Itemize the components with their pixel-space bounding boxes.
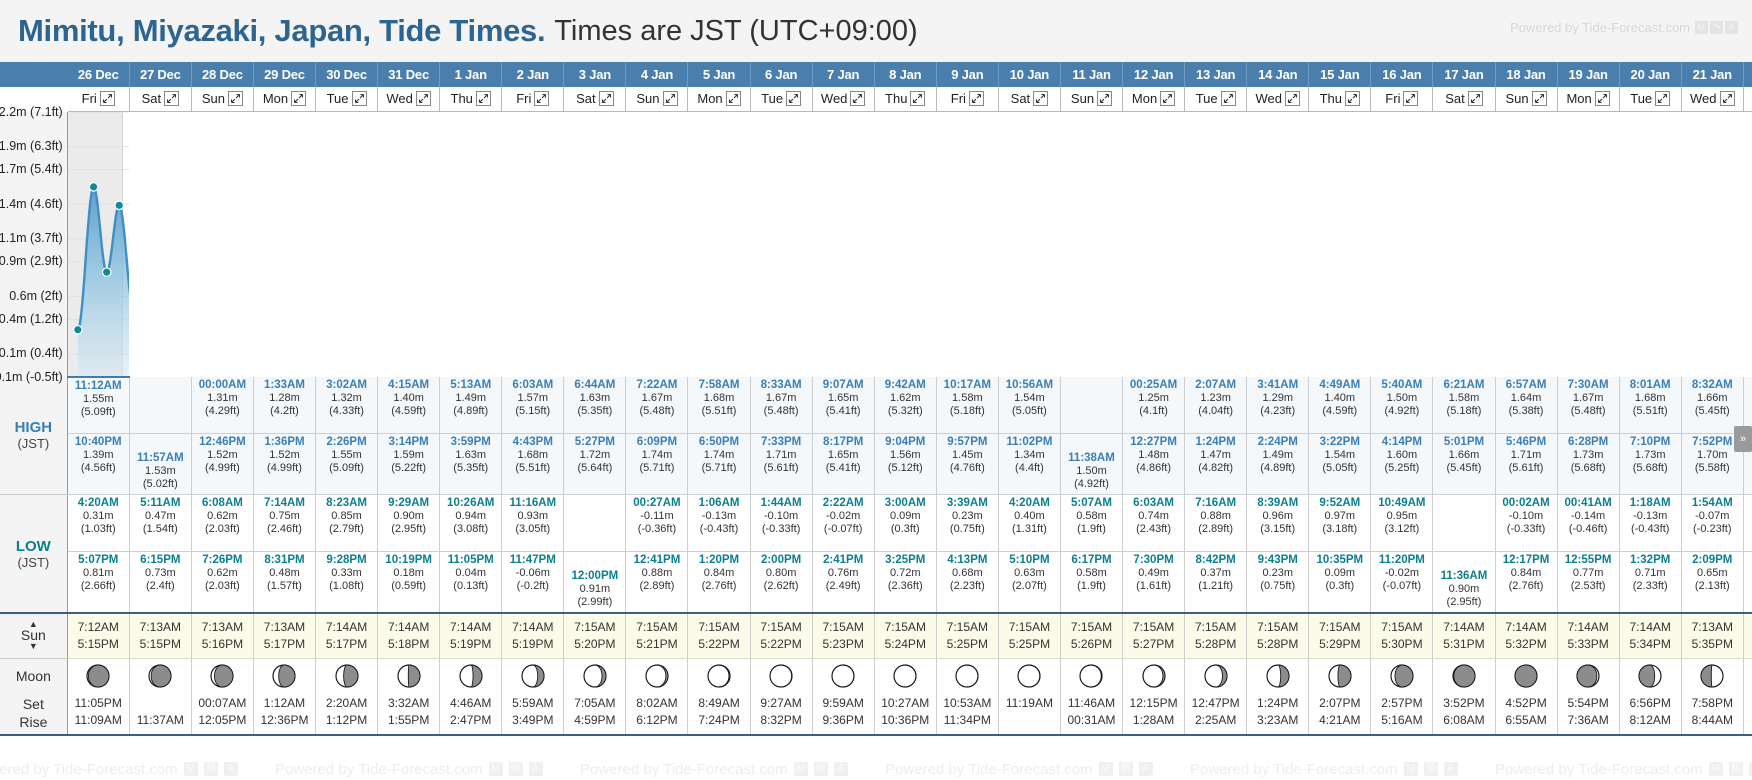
sunset-time: 5:15PM [130, 636, 191, 653]
expand-icon[interactable] [1468, 91, 1483, 106]
high-feet: (5.35ft) [440, 462, 501, 475]
low-meters: 0.85m [316, 510, 377, 523]
high-time: 5:01PM [1433, 436, 1494, 449]
sun-cell-2: 7:13AM5:16PM [191, 613, 253, 658]
moonset-time: 5:54PM [1558, 695, 1619, 712]
high-cell-14: 9:57PM1.45m(4.76ft) [936, 434, 998, 495]
y-axis-label-7: 0.4m (1.2ft) [0, 312, 63, 326]
low-meters: 0.18m [378, 567, 439, 580]
high-tide-label: HIGH (JST) [0, 377, 67, 495]
moonrise-time: 11:37AM [130, 712, 191, 729]
moon-setrise-cell-2: 00:07AM12:05PM [191, 694, 253, 735]
high-cell-21: 5:40AM1.50m(4.92ft) [1371, 377, 1433, 434]
high-feet: (5.35ft) [564, 405, 625, 418]
high-feet: (5.18ft) [937, 405, 998, 418]
sun-cell-1: 7:13AM5:15PM [129, 613, 191, 658]
sunset-time: 5:32PM [1496, 636, 1557, 653]
date-header-17[interactable]: 12 Jan [1123, 62, 1185, 87]
low-cell-23: 00:02AM-0.10m(-0.33ft) [1495, 495, 1557, 552]
date-header-3[interactable]: 29 Dec [253, 62, 315, 87]
low-meters: 0.91m [564, 583, 625, 596]
high-time: 7:10PM [1620, 436, 1681, 449]
weekday-label-16: Sun [1071, 91, 1094, 106]
powered-by-header: Powered by Tide-Forecast.com M ↷ A [1510, 20, 1738, 35]
expand-icon[interactable] [1097, 91, 1112, 106]
low-cell-5: 9:29AM0.90m(2.95ft) [378, 495, 440, 552]
expand-icon[interactable] [786, 91, 801, 106]
high-feet: (5.64ft) [564, 462, 625, 475]
high-cell-7: 6:03AM1.57m(5.15ft) [502, 377, 564, 434]
high-cell-16 [1060, 377, 1122, 434]
high-cell-2: 00:00AM1.31m(4.29ft) [191, 377, 253, 434]
date-header-16[interactable]: 11 Jan [1060, 62, 1122, 87]
low-meters: 0.90m [378, 510, 439, 523]
moon-phase-icon [520, 663, 546, 689]
low-time: 2:00PM [751, 554, 812, 567]
high-cell-3: 1:36PM1.52m(4.99ft) [253, 434, 315, 495]
low-time: 12:00PM [564, 570, 625, 583]
expand-icon[interactable] [850, 91, 865, 106]
high-meters: 1.47m [1185, 449, 1246, 462]
high-meters: 1.31m [192, 392, 253, 405]
low-feet: (-0.43ft) [1620, 523, 1681, 536]
date-header-18[interactable]: 13 Jan [1185, 62, 1247, 87]
low-meters: 0.94m [440, 510, 501, 523]
moon-phase-icon [582, 663, 608, 689]
low-time: 10:35PM [1309, 554, 1370, 567]
sunrise-time: 7:15AM [813, 619, 874, 636]
moonset-time: 9:59AM [813, 695, 874, 712]
high-meters: 1.55m [68, 393, 129, 406]
date-header-6[interactable]: 1 Jan [440, 62, 502, 87]
weekday-label-18: Tue [1196, 91, 1218, 106]
low-time: 11:05PM [440, 554, 501, 567]
high-feet: (4.2ft) [254, 405, 315, 418]
footer-badge-icon-2: A [224, 762, 238, 776]
high-meters: 1.52m [192, 449, 253, 462]
weekday-label-5: Wed [386, 91, 413, 106]
moon-phase-icon [1575, 663, 1601, 689]
high-feet: (5.41ft) [813, 405, 874, 418]
high-time: 2:07AM [1185, 379, 1246, 392]
high-cell-25: 7:10PM1.73m(5.68ft) [1619, 434, 1681, 495]
low-time: 5:07AM [1061, 497, 1122, 510]
moonset-time: 8:49AM [688, 695, 749, 712]
low-meters: 0.03m [1744, 510, 1752, 523]
sun-cell-25: 7:14AM5:34PM [1619, 613, 1681, 658]
expand-icon[interactable] [1033, 91, 1048, 106]
low-cell-8 [564, 495, 626, 552]
high-feet: (5.51ft) [1620, 405, 1681, 418]
high-cell-6: 3:59PM1.63m(5.35ft) [440, 434, 502, 495]
high-feet: (5.41ft) [813, 462, 874, 475]
sunrise-time: 7:15AM [626, 619, 687, 636]
low-cell-24: 00:41AM-0.14m(-0.46ft) [1557, 495, 1619, 552]
date-header-11[interactable]: 6 Jan [750, 62, 812, 87]
sun-cell-13: 7:15AM5:24PM [874, 613, 936, 658]
y-axis-label-9: -0.1m (-0.5ft) [0, 370, 63, 384]
page-header: Mimitu, Miyazaki, Japan, Tide Times. Tim… [0, 0, 1752, 62]
low-cell-3: 8:31PM0.48m(1.57ft) [253, 552, 315, 614]
date-header-0[interactable]: 26 Dec [67, 62, 129, 87]
moonrise-time [999, 712, 1060, 729]
date-header-2[interactable]: 28 Dec [191, 62, 253, 87]
high-meters: 1.50m [1371, 392, 1432, 405]
expand-icon[interactable] [476, 91, 491, 106]
high-cell-20: 3:22PM1.54m(5.05ft) [1309, 434, 1371, 495]
low-meters: 0.84m [688, 567, 749, 580]
high-meters: 1.39m [68, 449, 129, 462]
moonrise-time: 6:12PM [626, 712, 687, 729]
sunrise-time: 7:14AM [1558, 619, 1619, 636]
low-time: 6:17PM [1061, 554, 1122, 567]
low-feet: (2.4ft) [130, 580, 191, 593]
expand-icon[interactable] [1403, 91, 1418, 106]
high-cell-6: 5:13AM1.49m(4.89ft) [440, 377, 502, 434]
high-cell-11: 8:33AM1.67m(5.48ft) [750, 377, 812, 434]
moonrise-time: 1:55PM [378, 712, 439, 729]
moonrise-time: 9:36PM [813, 712, 874, 729]
low-cell-2: 6:08AM0.62m(2.03ft) [191, 495, 253, 552]
weekday-label-10: Mon [697, 91, 722, 106]
expand-icon[interactable] [1160, 91, 1175, 106]
low-meters: 0.23m [1247, 567, 1308, 580]
tide-chart[interactable] [67, 111, 129, 377]
moon-phase-cell-23 [1495, 658, 1557, 694]
low-meters: 0.88m [1185, 510, 1246, 523]
tide-marker-2[interactable] [102, 267, 110, 275]
powered-by-text: Powered by Tide-Forecast.com [1510, 20, 1690, 35]
sun-cell-21: 7:15AM5:30PM [1371, 613, 1433, 658]
moon-phase-icon [1078, 663, 1104, 689]
expand-icon[interactable] [663, 91, 678, 106]
low-time: 1:18AM [1620, 497, 1681, 510]
moon-setrise-cell-17: 12:15PM1:28AM [1123, 694, 1185, 735]
date-header-10[interactable]: 5 Jan [688, 62, 750, 87]
high-time: 7:33PM [751, 436, 812, 449]
low-cell-21: 11:20PM-0.02m(-0.07ft) [1371, 552, 1433, 614]
high-meters: 1.52m [254, 449, 315, 462]
weekday-cell-24: Mon [1557, 87, 1619, 111]
weekday-cell-1: Sat [129, 87, 191, 111]
weekday-cell-15: Sat [998, 87, 1060, 111]
low-feet: (2.07ft) [999, 580, 1060, 593]
weekday-label-24: Mon [1566, 91, 1591, 106]
high-feet: (5.05ft) [1309, 462, 1370, 475]
high-time: 6:50PM [688, 436, 749, 449]
low-feet: (2.79ft) [316, 523, 377, 536]
high-meters: 1.29m [1247, 392, 1308, 405]
low-time: 2:41PM [813, 554, 874, 567]
expand-icon[interactable] [969, 91, 984, 106]
low-cell-16: 5:07AM0.58m(1.9ft) [1060, 495, 1122, 552]
sunset-time: 5:35PM [1682, 636, 1743, 653]
sunrise-time: 7:15AM [937, 619, 998, 636]
low-feet: (-0.33ft) [751, 523, 812, 536]
footer-badge-icon-0: M [1404, 762, 1418, 776]
moonrise-time: 2:25AM [1185, 712, 1246, 729]
high-time: 4:49AM [1309, 379, 1370, 392]
expand-icon[interactable] [291, 91, 306, 106]
date-header-12[interactable]: 7 Jan [812, 62, 874, 87]
low-time: 12:55PM [1558, 554, 1619, 567]
weekday-cell-11: Tue [750, 87, 812, 111]
date-header-9[interactable]: 4 Jan [626, 62, 688, 87]
low-meters: -0.13m [688, 510, 749, 523]
y-axis-label-6: 0.6m (2ft) [9, 289, 63, 303]
moon-phase-cell-7 [502, 658, 564, 694]
date-header-19[interactable]: 14 Jan [1247, 62, 1309, 87]
expand-icon[interactable] [1595, 91, 1610, 106]
sun-cell-23: 7:14AM5:32PM [1495, 613, 1557, 658]
high-time: 1:33AM [254, 379, 315, 392]
low-feet: (1.97ft) [1744, 580, 1752, 593]
sunrise-time: 7:14AM [378, 619, 439, 636]
sunrise-time: 7:15AM [751, 619, 812, 636]
weekday-label-13: Thu [885, 91, 907, 106]
tide-marker-1[interactable] [89, 182, 97, 190]
low-time: 2:09PM [1682, 554, 1743, 567]
expand-icon[interactable] [1285, 91, 1300, 106]
date-header-13[interactable]: 8 Jan [874, 62, 936, 87]
footer-watermark: Powered by Tide-Forecast.comM蘱A [885, 761, 1153, 778]
date-header-26[interactable]: 21 Jan [1681, 62, 1743, 87]
low-time: 1:32PM [1620, 554, 1681, 567]
y-axis-label-8: 0.1m (0.4ft) [0, 346, 63, 360]
low-cell-20: 9:52AM0.97m(3.18ft) [1309, 495, 1371, 552]
high-feet: (5.48ft) [1558, 405, 1619, 418]
low-meters: 0.40m [999, 510, 1060, 523]
low-meters: 0.60m [1744, 567, 1752, 580]
moon-phase-cell-9 [626, 658, 688, 694]
expand-icon[interactable] [534, 91, 549, 106]
date-header-14[interactable]: 9 Jan [936, 62, 998, 87]
high-meters: 1.66m [1682, 392, 1743, 405]
high-feet: (4.86ft) [1123, 462, 1184, 475]
footer-watermark-text: Powered by Tide-Forecast.com [275, 761, 483, 778]
low-meters: 0.97m [1309, 510, 1370, 523]
moon-setrise-label: Set Rise [0, 694, 67, 735]
expand-icon[interactable] [164, 91, 179, 106]
low-feet: (-0.07ft) [813, 523, 874, 536]
date-header-24[interactable]: 19 Jan [1557, 62, 1619, 87]
high-meters: 1.28m [254, 392, 315, 405]
low-time: 7:30PM [1123, 554, 1184, 567]
low-label-unit: (JST) [0, 555, 67, 570]
low-time: 7:26PM [192, 554, 253, 567]
moon-setrise-cell-10: 8:49AM7:24PM [688, 694, 750, 735]
high-tide-row-2: 10:40PM1.39m(4.56ft)11:57AM1.53m(5.02ft)… [0, 434, 1752, 495]
scroll-right-handle[interactable]: » [1734, 426, 1752, 452]
date-header-5[interactable]: 31 Dec [378, 62, 440, 87]
weekday-cell-3: Mon [253, 87, 315, 111]
high-meters: 1.73m [1558, 449, 1619, 462]
date-header-20[interactable]: 15 Jan [1309, 62, 1371, 87]
moonrise-time: 12:05PM [192, 712, 253, 729]
tide-marker-3[interactable] [115, 201, 123, 209]
expand-icon[interactable] [1221, 91, 1236, 106]
low-meters: 0.33m [316, 567, 377, 580]
high-cell-24: 7:30AM1.67m(5.48ft) [1557, 377, 1619, 434]
y-axis: 2.2m (7.1ft)1.9m (6.3ft)1.7m (5.4ft)1.4m… [0, 111, 67, 377]
date-header-21[interactable]: 16 Jan [1371, 62, 1433, 87]
low-meters: 0.81m [68, 567, 129, 580]
moon-phase-icon [830, 663, 856, 689]
weekday-label-20: Thu [1320, 91, 1342, 106]
tide-marker-0[interactable] [73, 325, 81, 333]
footer-badge-icon-0: M [489, 762, 503, 776]
date-header-22[interactable]: 17 Jan [1433, 62, 1495, 87]
low-time: 7:14AM [254, 497, 315, 510]
high-feet: (5.02ft) [130, 478, 191, 491]
high-time: 6:57AM [1496, 379, 1557, 392]
low-meters: -0.07m [1682, 510, 1743, 523]
low-time: 12:41PM [626, 554, 687, 567]
low-cell-18: 8:42PM0.37m(1.21ft) [1185, 552, 1247, 614]
moonset-time: 10:27AM [875, 695, 936, 712]
moonset-label-text: Set [1, 695, 66, 713]
date-header-15[interactable]: 10 Jan [998, 62, 1060, 87]
weekday-cell-10: Mon [688, 87, 750, 111]
low-cell-11: 1:44AM-0.10m(-0.33ft) [750, 495, 812, 552]
moon-setrise-cell-14: 10:53AM11:34PM [936, 694, 998, 735]
low-meters: 0.49m [1123, 567, 1184, 580]
low-feet: (2.95ft) [378, 523, 439, 536]
high-meters: 1.55m [316, 449, 377, 462]
high-meters: 1.63m [440, 449, 501, 462]
date-header-1[interactable]: 27 Dec [129, 62, 191, 87]
low-feet: (2.33ft) [1620, 580, 1681, 593]
sun-cell-26: 7:13AM5:35PM [1681, 613, 1743, 658]
low-time: 4:13PM [937, 554, 998, 567]
high-time: 3:41AM [1247, 379, 1308, 392]
low-cell-10: 1:06AM-0.13m(-0.43ft) [688, 495, 750, 552]
date-header-27[interactable]: 22 Jan [1743, 62, 1752, 87]
high-feet: (5.05ft) [999, 405, 1060, 418]
low-feet: (1.57ft) [254, 580, 315, 593]
high-time: 00:00AM [192, 379, 253, 392]
badge-a-icon: A [1725, 21, 1738, 34]
weekday-label-17: Mon [1132, 91, 1157, 106]
low-feet: (2.46ft) [254, 523, 315, 536]
moon-setrise-cell-13: 10:27AM10:36PM [874, 694, 936, 735]
low-time: 9:43PM [1247, 554, 1308, 567]
expand-icon[interactable] [1532, 91, 1547, 106]
moon-phase-icon [1699, 663, 1725, 689]
low-feet: (3.08ft) [440, 523, 501, 536]
sun-cell-5: 7:14AM5:18PM [378, 613, 440, 658]
sunset-time: 5:33PM [1558, 636, 1619, 653]
high-meters: 1.53m [130, 465, 191, 478]
moon-setrise-cell-24: 5:54PM7:36AM [1557, 694, 1619, 735]
sun-cell-14: 7:15AM5:25PM [936, 613, 998, 658]
moon-phase-cell-10 [688, 658, 750, 694]
sunset-time: 5:31PM [1433, 636, 1494, 653]
high-cell-1: 11:57AM1.53m(5.02ft) [129, 434, 191, 495]
tide-table-wrap[interactable]: 26 Dec27 Dec28 Dec29 Dec30 Dec31 Dec1 Ja… [0, 62, 1752, 780]
moonset-time: 2:20AM [316, 695, 377, 712]
high-label-unit: (JST) [0, 436, 67, 451]
expand-icon[interactable] [416, 91, 431, 106]
low-feet: (-0.07ft) [1371, 580, 1432, 593]
low-cell-20: 10:35PM0.09m(0.3ft) [1309, 552, 1371, 614]
moon-setrise-cell-0: 11:05PM11:09AM [67, 694, 129, 735]
sunset-time: 5:17PM [254, 636, 315, 653]
expand-icon[interactable] [100, 91, 115, 106]
high-time: 10:40PM [68, 436, 129, 449]
low-feet: (1.9ft) [1061, 580, 1122, 593]
moon-phase-cell-13 [874, 658, 936, 694]
low-time: 1:20PM [688, 554, 749, 567]
moonrise-time: 4:21AM [1309, 712, 1370, 729]
expand-icon[interactable] [1345, 91, 1360, 106]
date-header-4[interactable]: 30 Dec [316, 62, 378, 87]
sun-cell-15: 7:15AM5:25PM [998, 613, 1060, 658]
moon-phase-cell-5 [378, 658, 440, 694]
low-cell-6: 10:26AM0.94m(3.08ft) [440, 495, 502, 552]
low-meters: 0.65m [1682, 567, 1743, 580]
sunset-time: 5:16PM [192, 636, 253, 653]
low-meters: 0.84m [1496, 567, 1557, 580]
high-meters: 1.40m [1309, 392, 1370, 405]
expand-icon[interactable] [1655, 91, 1670, 106]
sunrise-time: 7:15AM [1061, 619, 1122, 636]
date-header-8[interactable]: 3 Jan [564, 62, 626, 87]
expand-icon[interactable] [599, 91, 614, 106]
date-header-7[interactable]: 2 Jan [502, 62, 564, 87]
expand-icon[interactable] [228, 91, 243, 106]
high-cell-9: 7:22AM1.67m(5.48ft) [626, 377, 688, 434]
expand-icon[interactable] [352, 91, 367, 106]
weekday-label-2: Sun [202, 91, 225, 106]
low-feet: (0.3ft) [1309, 580, 1370, 593]
expand-icon[interactable] [1720, 91, 1735, 106]
high-cell-15: 11:02PM1.34m(4.4ft) [998, 434, 1060, 495]
expand-icon[interactable] [726, 91, 741, 106]
low-time: 10:19PM [378, 554, 439, 567]
low-time: 3:25PM [875, 554, 936, 567]
low-meters: 0.48m [254, 567, 315, 580]
y-axis-label-5: 0.9m (2.9ft) [0, 254, 63, 268]
low-cell-10: 1:20PM0.84m(2.76ft) [688, 552, 750, 614]
moonrise-time: 1:12PM [316, 712, 377, 729]
high-meters: 1.25m [1123, 392, 1184, 405]
sun-cell-9: 7:15AM5:21PM [626, 613, 688, 658]
moonrise-time: 12:36PM [254, 712, 315, 729]
low-cell-22 [1433, 495, 1495, 552]
high-cell-17: 00:25AM1.25m(4.1ft) [1123, 377, 1185, 434]
high-meters: 1.56m [875, 449, 936, 462]
high-feet: (4.1ft) [1123, 405, 1184, 418]
sun-row: ▲ Sun ▼ 7:12AM5:15PM7:13AM5:15PM7:13AM5:… [0, 613, 1752, 658]
expand-icon[interactable] [910, 91, 925, 106]
weekday-cell-18: Tue [1185, 87, 1247, 111]
footer-badge-icon-1: 蘱 [1424, 762, 1438, 776]
sun-cell-20: 7:15AM5:29PM [1309, 613, 1371, 658]
date-header-25[interactable]: 20 Jan [1619, 62, 1681, 87]
low-time: 00:41AM [1558, 497, 1619, 510]
date-header-23[interactable]: 18 Jan [1495, 62, 1557, 87]
low-meters: 0.88m [626, 567, 687, 580]
weekday-label-8: Sat [576, 91, 596, 106]
weekday-cell-19: Wed [1247, 87, 1309, 111]
footer-badge-icon-0: M [1709, 762, 1723, 776]
moonrise-time: 00:31AM [1061, 712, 1122, 729]
low-cell-21: 10:49AM0.95m(3.12ft) [1371, 495, 1433, 552]
chart-row: 2.2m (7.1ft)1.9m (6.3ft)1.7m (5.4ft)1.4m… [0, 111, 1752, 377]
low-time: 8:23AM [316, 497, 377, 510]
moon-phase-icon [1389, 663, 1415, 689]
